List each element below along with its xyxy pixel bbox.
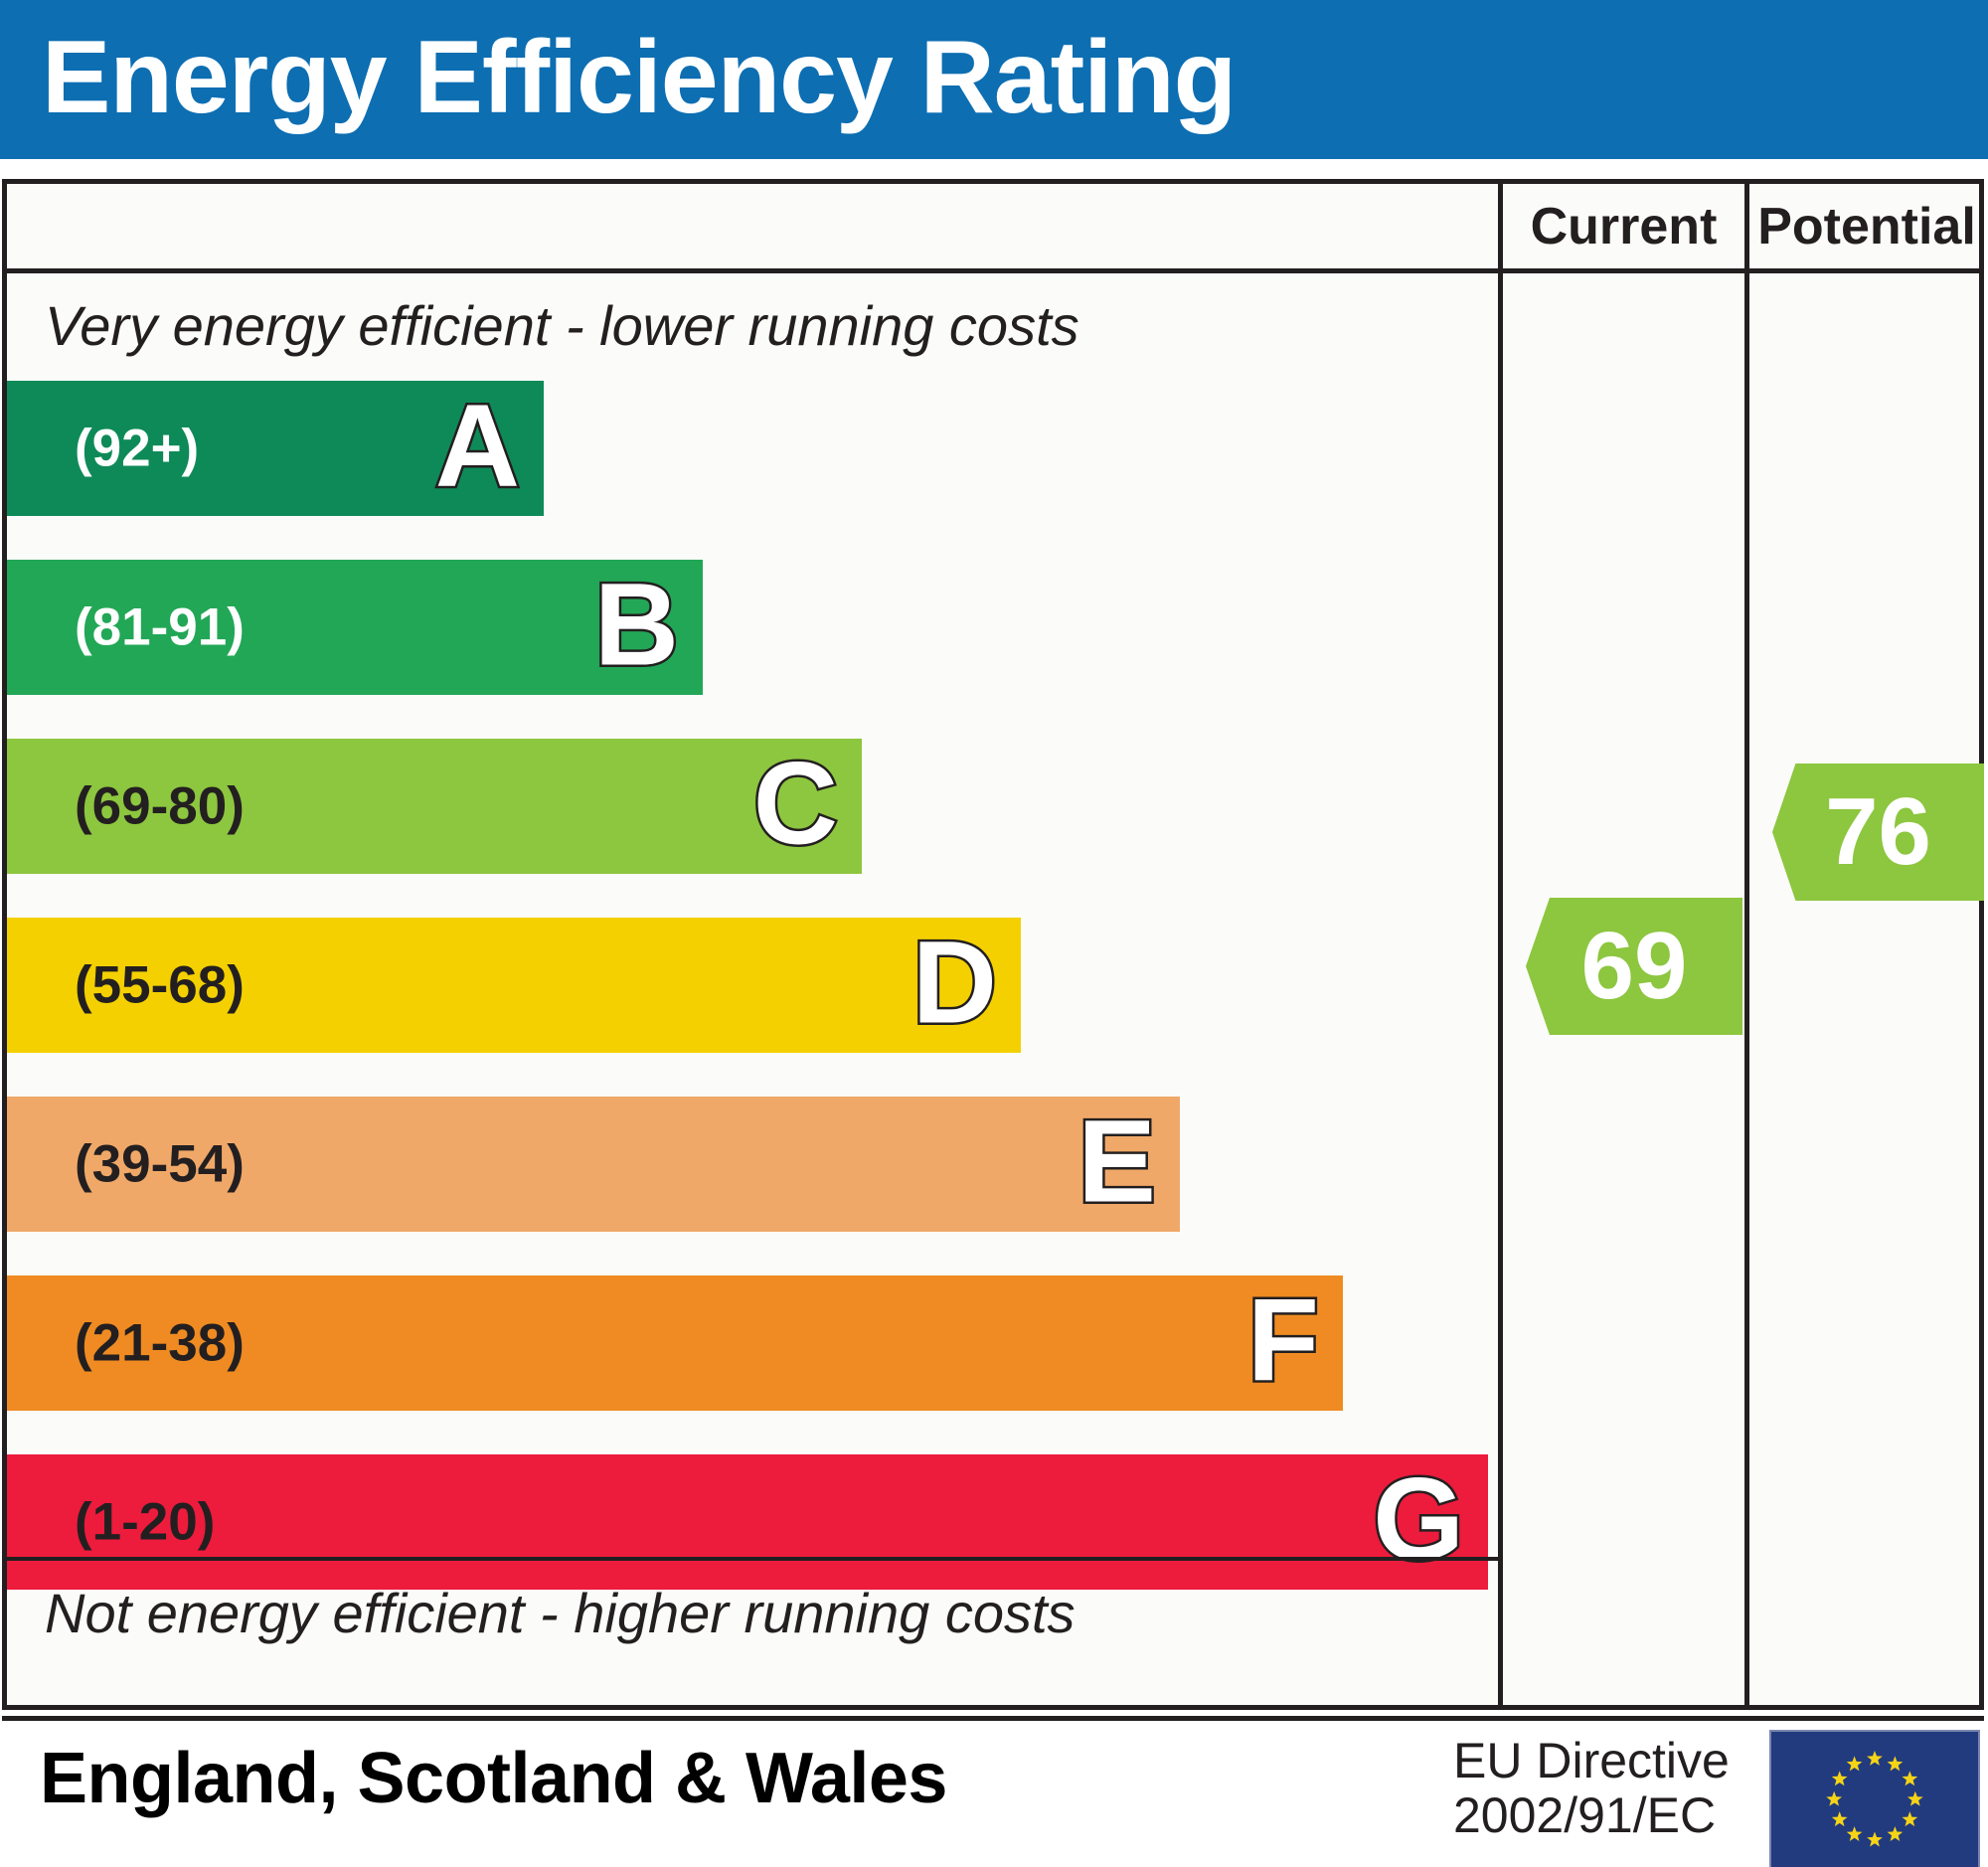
- band-letter-label: B: [594, 567, 679, 684]
- directive-line-1: EU Directive: [1453, 1734, 1730, 1788]
- band-range-label: (81-91): [75, 601, 245, 654]
- chart-body: Current Potential Very energy efficient …: [2, 179, 1984, 1710]
- energy-efficiency-rating-chart: Energy Efficiency Rating Current Potenti…: [0, 0, 1988, 1867]
- column-divider-potential: [1744, 273, 1749, 1710]
- footer-directive: EU Directive 2002/91/EC: [1453, 1734, 1730, 1843]
- band-letter-label: D: [912, 925, 997, 1042]
- band-letter-label: E: [1077, 1103, 1156, 1221]
- band-range-label: (39-54): [75, 1138, 245, 1191]
- band-g: (1-20)G: [7, 1454, 1488, 1590]
- caption-divider: [7, 1557, 1498, 1561]
- footer-top-rule: [2, 1716, 1984, 1721]
- caption-not-efficient: Not energy efficient - higher running co…: [45, 1581, 1076, 1645]
- band-b: (81-91)B: [7, 560, 703, 695]
- column-header-potential: Potential: [1744, 184, 1984, 268]
- band-range-label: (92+): [75, 423, 199, 475]
- band-list: (92+)A(81-91)B(69-80)C(55-68)D(39-54)E(2…: [7, 184, 1498, 1715]
- current-rating-value: 69: [1581, 919, 1688, 1014]
- band-range-label: (1-20): [75, 1496, 215, 1549]
- band-letter-label: A: [435, 388, 520, 505]
- potential-rating-value: 76: [1825, 784, 1931, 880]
- band-range-label: (21-38): [75, 1317, 245, 1370]
- band-e: (39-54)E: [7, 1097, 1180, 1232]
- directive-line-2: 2002/91/EC: [1453, 1788, 1730, 1843]
- eu-flag-icon: [1769, 1730, 1980, 1867]
- band-letter-label: C: [753, 746, 838, 863]
- band-letter-label: F: [1247, 1282, 1319, 1400]
- footer-region-label: England, Scotland & Wales: [40, 1738, 947, 1819]
- band-a: (92+)A: [7, 381, 544, 516]
- band-d: (55-68)D: [7, 918, 1021, 1053]
- column-header-current: Current: [1498, 184, 1744, 268]
- potential-rating-badge: 76: [1772, 764, 1984, 901]
- page-title: Energy Efficiency Rating: [42, 18, 1236, 137]
- column-divider-current: [1498, 273, 1503, 1710]
- chart-footer: England, Scotland & Wales EU Directive 2…: [2, 1716, 1984, 1865]
- band-c: (69-80)C: [7, 739, 862, 874]
- band-range-label: (69-80): [75, 780, 245, 833]
- band-f: (21-38)F: [7, 1275, 1343, 1411]
- chart-header: Energy Efficiency Rating: [0, 0, 1988, 159]
- band-range-label: (55-68): [75, 959, 245, 1012]
- current-rating-badge: 69: [1526, 898, 1742, 1035]
